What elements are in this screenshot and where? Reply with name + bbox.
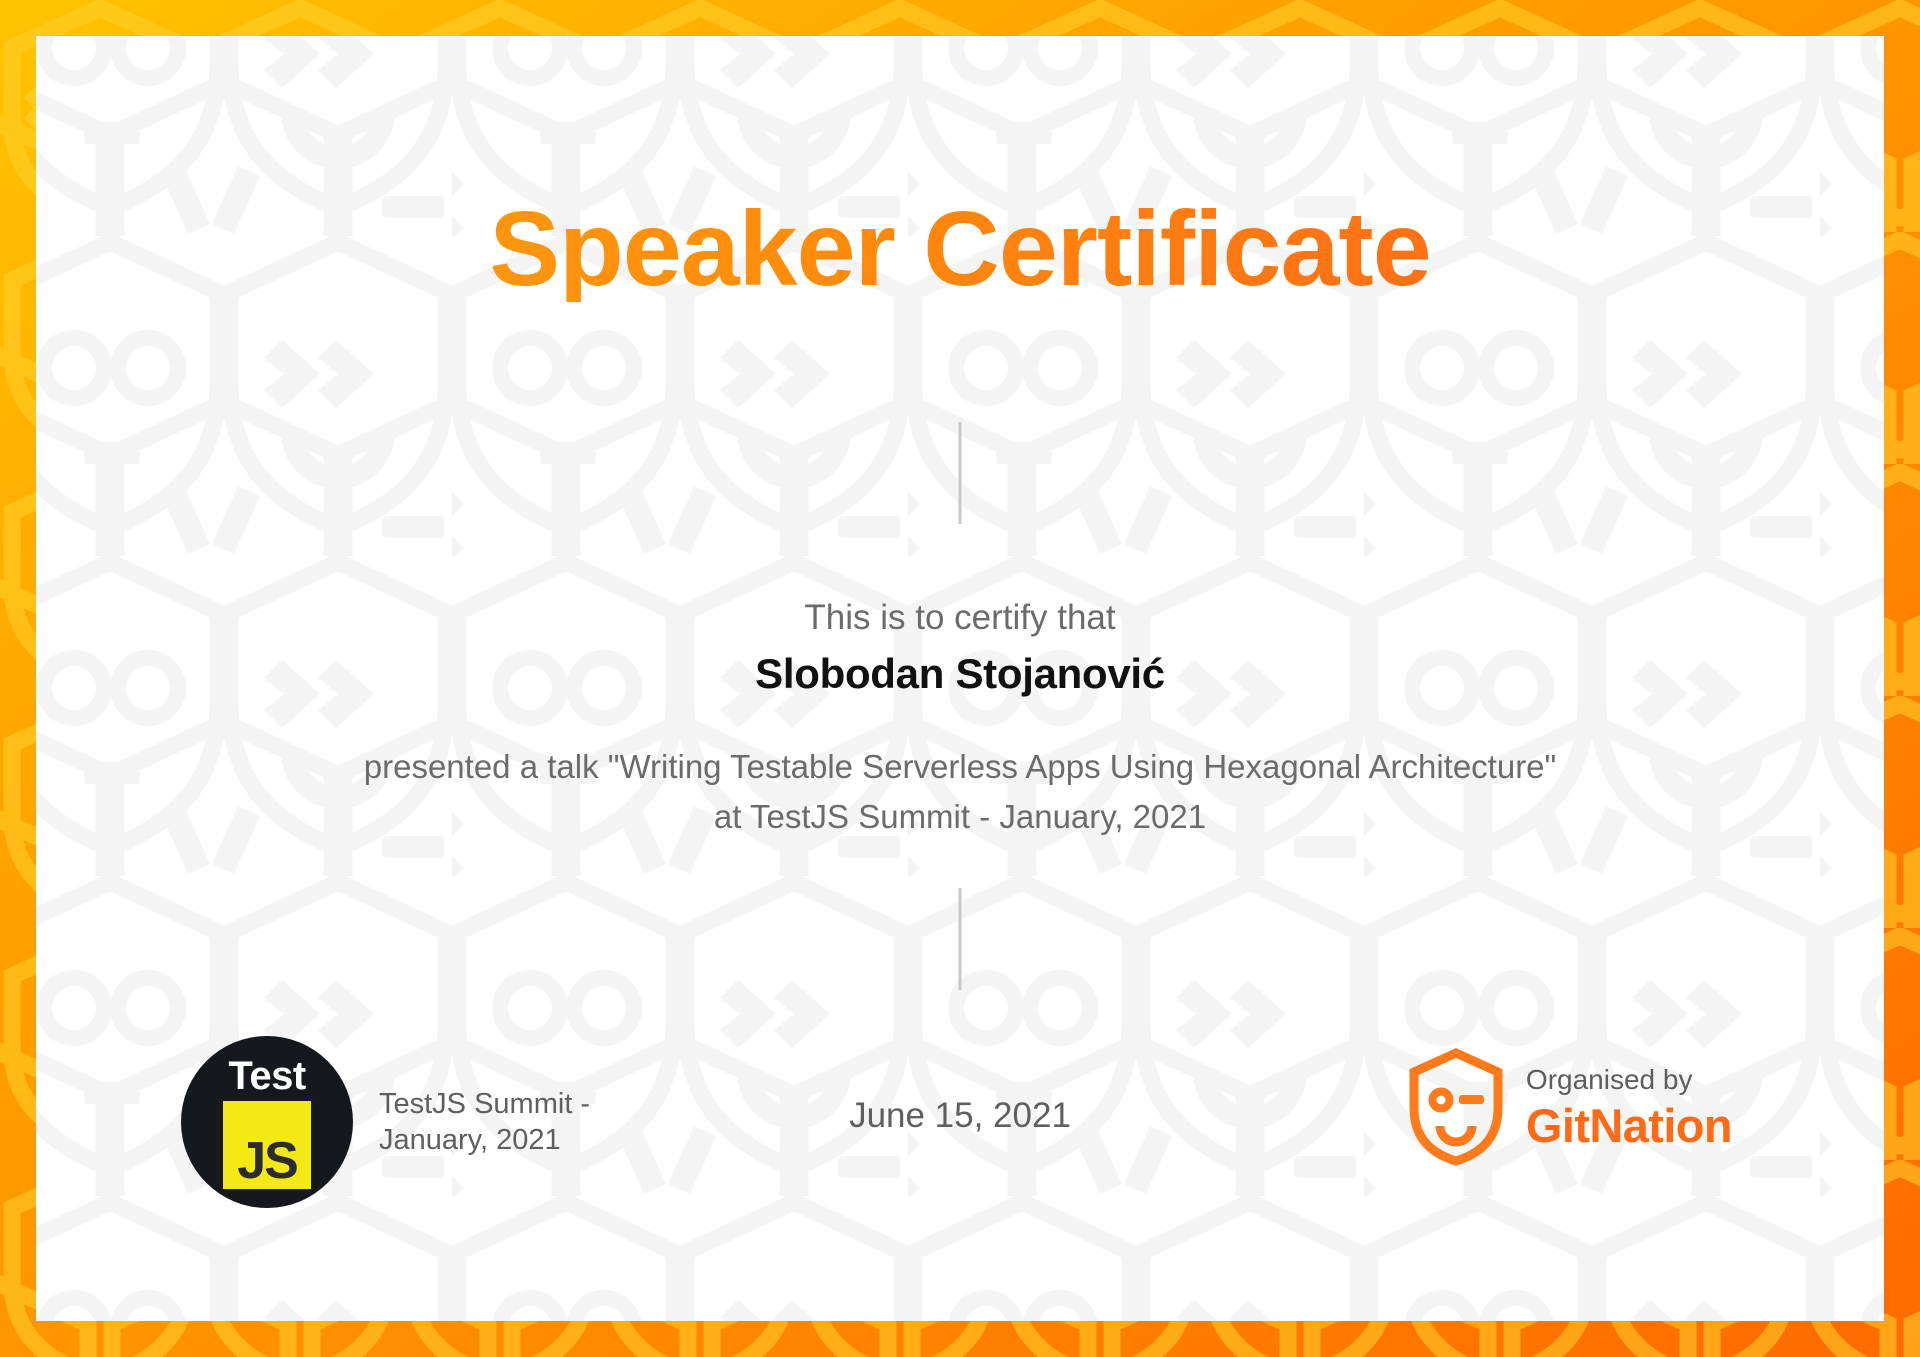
organiser-text: Organised by GitNation: [1526, 1065, 1732, 1149]
talk-line: presented a talk "Writing Testable Serve…: [156, 746, 1764, 787]
certify-line: This is to certify that: [36, 598, 1884, 638]
speaker-certificate: Speaker Certificate This is to certify t…: [0, 0, 1920, 1357]
certificate-card: Speaker Certificate This is to certify t…: [36, 36, 1884, 1321]
gitnation-shield-icon: [1408, 1048, 1504, 1166]
testjs-logo-word-bottom: JS: [237, 1135, 297, 1188]
organised-by-label: Organised by: [1526, 1065, 1732, 1096]
organiser-block: Organised by GitNation: [1408, 1048, 1732, 1166]
organiser-name: GitNation: [1526, 1102, 1732, 1149]
testjs-logo-word-top: Test: [228, 1056, 305, 1096]
divider-bottom: [959, 888, 962, 990]
event-line: at TestJS Summit - January, 2021: [156, 796, 1764, 837]
divider-top: [959, 422, 962, 524]
page-title: Speaker Certificate: [36, 196, 1884, 302]
recipient-name: Slobodan Stojanović: [36, 650, 1884, 698]
